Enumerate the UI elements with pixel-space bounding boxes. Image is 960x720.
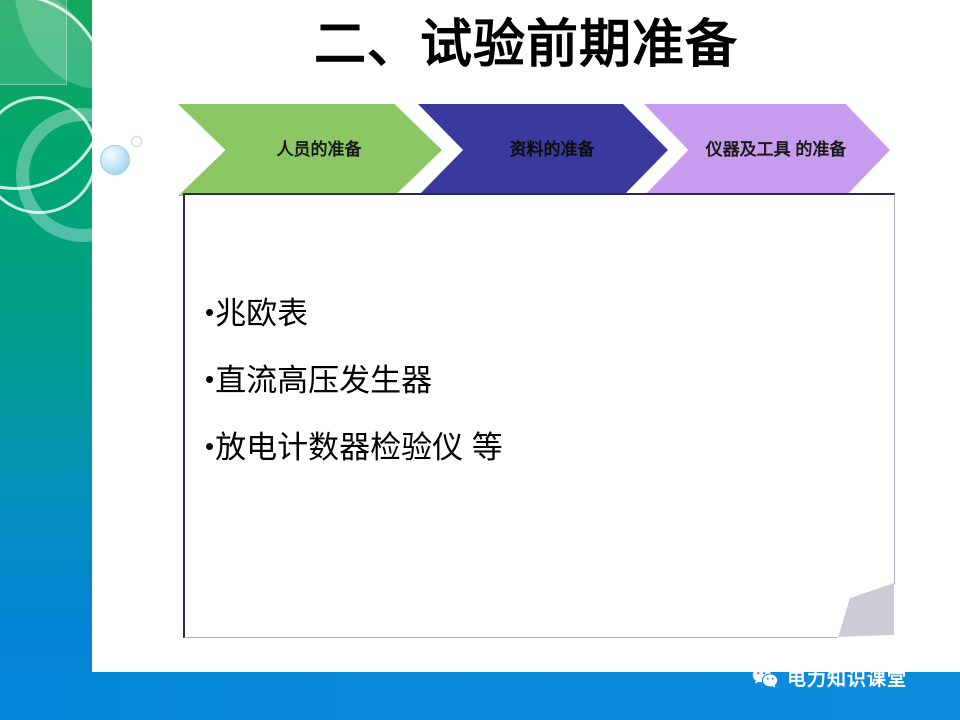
bullet-dot-icon: •	[205, 364, 214, 394]
process-step-1-label: 人员的准备	[259, 134, 362, 166]
left-gradient-band	[0, 0, 92, 720]
slide-canvas: 二、试验前期准备 人员的准备 资料的准备 仪器及工具 的准备 •兆欧表 •直流高…	[0, 0, 960, 720]
list-item: •兆欧表	[205, 298, 845, 329]
bullet-dot-icon: •	[205, 297, 214, 327]
bullet-dot-icon: •	[205, 431, 214, 461]
bullet-list: •兆欧表 •直流高压发生器 •放电计数器检验仪 等	[205, 298, 845, 499]
watermark-text: 电力知识课堂	[787, 664, 907, 691]
bubble-large-icon	[100, 145, 130, 175]
wechat-icon	[752, 667, 778, 689]
process-step-2[interactable]: 资料的准备	[418, 104, 668, 196]
process-step-1[interactable]: 人员的准备	[178, 104, 442, 196]
bubble-small-icon	[131, 136, 142, 147]
list-item: •直流高压发生器	[205, 365, 845, 396]
process-chevron-row: 人员的准备 资料的准备 仪器及工具 的准备	[178, 104, 890, 196]
list-item: •放电计数器检验仪 等	[205, 432, 845, 463]
process-step-3-label: 仪器及工具 的准备	[688, 134, 847, 166]
process-step-2-label: 资料的准备	[492, 134, 595, 166]
list-item-label: 放电计数器检验仪 等	[215, 430, 503, 465]
list-item-label: 直流高压发生器	[215, 363, 432, 398]
list-item-label: 兆欧表	[215, 296, 308, 331]
folded-corner-icon	[836, 583, 894, 637]
watermark: 电力知识课堂	[752, 664, 907, 691]
page-title: 二、试验前期准备	[92, 16, 960, 76]
process-step-3[interactable]: 仪器及工具 的准备	[644, 104, 890, 196]
